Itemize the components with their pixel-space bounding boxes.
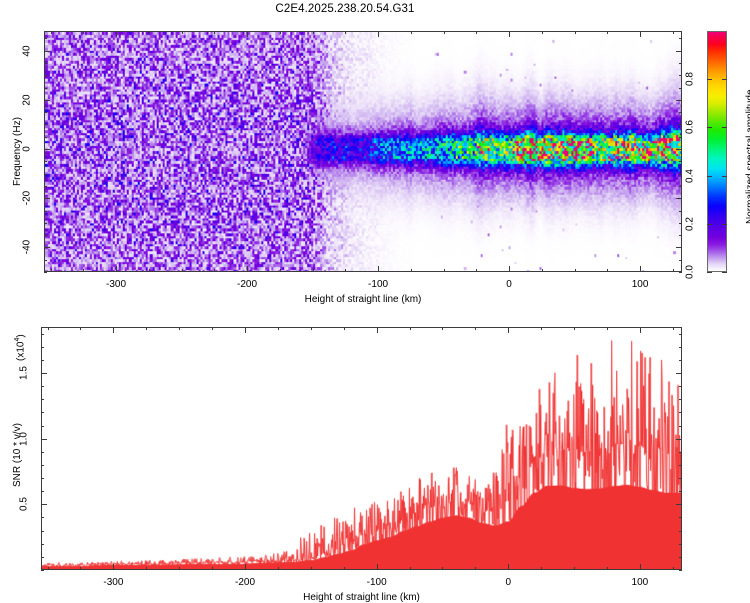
- colorbar-tick: [707, 272, 712, 273]
- snr-xtick-top: [179, 327, 180, 330]
- spectrogram-ytick-right: [676, 51, 682, 52]
- spectrogram-xtick: [542, 269, 543, 272]
- spectrogram-xtick: [411, 269, 412, 272]
- snr-trace-plot: [42, 328, 681, 569]
- snr-ytick: [41, 478, 44, 479]
- spectrogram-xtick-top: [83, 31, 84, 34]
- spectrogram-ytick: [44, 223, 47, 224]
- snr-y-multiplier-label: (x104): [14, 334, 26, 361]
- spectrogram-ytick: [44, 211, 47, 212]
- snr-x-axis-title: Height of straight line (km): [303, 592, 420, 603]
- snr-xticklabel: 100: [632, 577, 649, 588]
- snr-xtick-top: [80, 327, 81, 330]
- snr-ytick: [41, 347, 44, 348]
- snr-xtick-top: [541, 327, 542, 330]
- snr-ytick: [41, 334, 44, 335]
- spectrogram-ytick: [44, 88, 47, 89]
- spectrogram-ytick: [44, 174, 47, 175]
- snr-ytick-right: [679, 386, 682, 387]
- spectrogram-xtick: [247, 266, 248, 272]
- spectrogram-xtick-top: [345, 31, 346, 34]
- spectrogram-ytick-right: [679, 223, 682, 224]
- figure-title: C2E4.2025.238.20.54.G31: [0, 3, 690, 15]
- snr-xtick: [245, 564, 246, 570]
- snr-xtick: [80, 567, 81, 570]
- snr-ytick-right: [679, 465, 682, 466]
- colorbar-gradient: [707, 31, 727, 272]
- spectrogram-xtick: [313, 269, 314, 272]
- snr-ytick: [41, 439, 47, 440]
- snr-xtick-top: [607, 327, 608, 330]
- snr-xtick-top: [146, 327, 147, 330]
- spectrogram-xtick: [640, 266, 641, 272]
- snr-xtick: [640, 564, 641, 570]
- spectrogram-xtick-top: [575, 31, 576, 34]
- snr-ytick-right: [679, 452, 682, 453]
- snr-ytick-right: [679, 570, 682, 571]
- spectrogram-xtick: [607, 269, 608, 272]
- spectrogram-xtick-top: [247, 31, 248, 37]
- spectrogram-xtick: [378, 266, 379, 272]
- snr-ytick-right: [679, 544, 682, 545]
- spectrogram-ytick: [44, 198, 50, 199]
- spectrogram-ytick: [44, 161, 47, 162]
- snr-xtick: [146, 567, 147, 570]
- spectrogram-ytick: [44, 38, 47, 39]
- spectrogram-xtick-top: [149, 31, 150, 34]
- spectrogram-xtick: [476, 269, 477, 272]
- spectrogram-ytick: [44, 124, 47, 125]
- spectrogram-ytick-right: [676, 149, 682, 150]
- snr-ytick: [41, 426, 44, 427]
- colorbar-tick: [722, 176, 727, 177]
- spectrogram-xtick-top: [476, 31, 477, 34]
- snr-ytick: [41, 373, 47, 374]
- spectrogram-ytick: [44, 112, 47, 113]
- spectrogram-ytick: [44, 235, 47, 236]
- colorbar-tick: [722, 272, 727, 273]
- spectrogram-yticklabel: -20: [22, 185, 33, 211]
- spectrogram-ytick-right: [679, 112, 682, 113]
- snr-ytick: [41, 531, 44, 532]
- snr-xtick: [410, 567, 411, 570]
- spectrogram-ytick: [44, 51, 50, 52]
- colorbar-tick-label: 0.6: [685, 114, 696, 140]
- figure-root: C2E4.2025.238.20.54.G31 -300-200-1000100…: [0, 0, 750, 600]
- colorbar-tick-label: 0.4: [685, 163, 696, 189]
- spectrogram-xtick: [673, 269, 674, 272]
- colorbar-tick: [722, 224, 727, 225]
- snr-xtick: [278, 567, 279, 570]
- spectrogram-xtick: [214, 269, 215, 272]
- colorbar-tick: [707, 127, 712, 128]
- snr-ytick: [41, 360, 44, 361]
- colorbar-tick: [722, 127, 727, 128]
- spectrogram-xtick-top: [542, 31, 543, 34]
- spectrogram-ytick: [44, 100, 50, 101]
- snr-ytick: [41, 517, 44, 518]
- spectrogram-ytick-right: [676, 247, 682, 248]
- spectrogram-ytick: [44, 186, 47, 187]
- spectrogram-xtick-top: [378, 31, 379, 37]
- snr-xtick: [344, 567, 345, 570]
- snr-ytick-right: [679, 491, 682, 492]
- snr-xticklabel: 0: [505, 577, 511, 588]
- snr-xtick-top: [344, 327, 345, 330]
- spectrogram-xtick: [509, 266, 510, 272]
- snr-xtick-top: [574, 327, 575, 330]
- spectrogram-xtick-top: [51, 31, 52, 34]
- snr-xtick-top: [377, 327, 378, 333]
- snr-ytick-right: [679, 426, 682, 427]
- snr-ytick: [41, 412, 44, 413]
- snr-ytick: [41, 399, 44, 400]
- colorbar-tick: [707, 224, 712, 225]
- snr-xtick-top: [442, 327, 443, 330]
- spectrogram-ytick-right: [679, 75, 682, 76]
- snr-xtick-top: [673, 327, 674, 330]
- snr-ytick: [41, 544, 44, 545]
- spectrogram-ytick-right: [679, 63, 682, 64]
- snr-ytick-right: [679, 531, 682, 532]
- snr-xtick: [442, 567, 443, 570]
- colorbar-tick-label: 0.0: [685, 259, 696, 285]
- spectrogram-xtick-top: [673, 31, 674, 34]
- snr-ytick-right: [679, 517, 682, 518]
- spectrogram-xtick-top: [640, 31, 641, 37]
- spectrogram-yticklabel: 0: [22, 136, 33, 162]
- spectrogram-ytick-right: [679, 137, 682, 138]
- spectrogram-xtick-top: [607, 31, 608, 34]
- snr-xtick: [311, 567, 312, 570]
- snr-yticklabel: 1.5: [19, 360, 30, 386]
- snr-xtick: [607, 567, 608, 570]
- snr-xtick-top: [475, 327, 476, 330]
- colorbar-tick: [707, 176, 712, 177]
- spectrogram-ytick-right: [679, 272, 682, 273]
- snr-xtick-top: [410, 327, 411, 330]
- spectrogram-xtick: [345, 269, 346, 272]
- spectrogram-ytick: [44, 247, 50, 248]
- spectrogram-ytick-right: [676, 198, 682, 199]
- spectrogram-xtick: [280, 269, 281, 272]
- snr-xtick: [673, 567, 674, 570]
- spectrogram-ytick-right: [679, 38, 682, 39]
- spectrogram-ytick: [44, 149, 50, 150]
- snr-ytick: [41, 452, 44, 453]
- spectrogram-xtick: [51, 269, 52, 272]
- colorbar-tick-label: 0.8: [685, 66, 696, 92]
- snr-xtick: [212, 567, 213, 570]
- spectrogram-xtick-top: [313, 31, 314, 34]
- snr-ytick: [41, 570, 44, 571]
- spectrogram-xticklabel: -300: [106, 279, 126, 290]
- spectrogram-xticklabel: -200: [237, 279, 257, 290]
- colorbar-tick-label: 0.2: [685, 211, 696, 237]
- spectrogram-xtick: [575, 269, 576, 272]
- spectrogram-yticklabel: -40: [22, 234, 33, 260]
- spectrogram-x-axis-title: Height of straight line (km): [305, 294, 422, 305]
- snr-xtick: [541, 567, 542, 570]
- snr-xtick-top: [212, 327, 213, 330]
- snr-xtick-top: [508, 327, 509, 333]
- snr-xtick-top: [278, 327, 279, 330]
- snr-ytick-right: [679, 347, 682, 348]
- spectrogram-ytick-right: [676, 100, 682, 101]
- snr-ytick-right: [676, 504, 682, 505]
- spectrogram-xtick-top: [214, 31, 215, 34]
- snr-ytick-right: [679, 360, 682, 361]
- snr-xtick: [113, 564, 114, 570]
- spectrogram-ytick-right: [679, 88, 682, 89]
- spectrogram-yticklabel: 40: [22, 38, 33, 64]
- spectrogram-xtick-top: [444, 31, 445, 34]
- spectrogram-panel: [44, 31, 682, 272]
- spectrogram-xtick-top: [280, 31, 281, 34]
- spectrogram-xtick-top: [182, 31, 183, 34]
- spectrogram-xtick: [182, 269, 183, 272]
- snr-xticklabel: -300: [103, 577, 123, 588]
- spectrogram-ytick-right: [679, 124, 682, 125]
- snr-ytick: [41, 386, 44, 387]
- spectrogram-ytick: [44, 63, 47, 64]
- snr-yticklabel: 0.5: [19, 491, 30, 517]
- colorbar-tick: [707, 79, 712, 80]
- snr-y-axis-title: SNR (10 * v/v): [12, 423, 23, 487]
- snr-ytick-right: [679, 478, 682, 479]
- spectrogram-ytick-right: [679, 161, 682, 162]
- snr-xtick: [48, 567, 49, 570]
- snr-xtick: [574, 567, 575, 570]
- spectrogram-ytick: [44, 137, 47, 138]
- colorbar-tick: [722, 79, 727, 80]
- spectrogram-xtick-top: [116, 31, 117, 37]
- spectrogram-xticklabel: -100: [368, 279, 388, 290]
- snr-xtick-top: [48, 327, 49, 330]
- snr-ytick: [41, 465, 44, 466]
- spectrogram-ytick-right: [679, 174, 682, 175]
- spectrogram-xticklabel: 0: [506, 279, 512, 290]
- snr-xticklabel: -100: [367, 577, 387, 588]
- colorbar-title: Normalized spectral amplitude: [745, 89, 750, 224]
- spectrogram-yticklabel: 20: [22, 87, 33, 113]
- spectrogram-ytick-right: [679, 260, 682, 261]
- spectrogram-xtick: [83, 269, 84, 272]
- snr-ytick-right: [679, 412, 682, 413]
- spectrogram-y-axis-title: Frequency (Hz): [12, 117, 23, 186]
- spectrogram-xtick: [149, 269, 150, 272]
- snr-xtick: [179, 567, 180, 570]
- snr-ytick-right: [676, 439, 682, 440]
- spectrogram-ytick-right: [679, 235, 682, 236]
- snr-xtick-top: [113, 327, 114, 333]
- spectrogram-image: [45, 32, 681, 271]
- snr-xticklabel: -200: [235, 577, 255, 588]
- snr-xtick-top: [640, 327, 641, 333]
- spectrogram-ytick-right: [679, 211, 682, 212]
- spectrogram-xtick-top: [509, 31, 510, 37]
- snr-ytick-right: [679, 557, 682, 558]
- spectrogram-xtick: [444, 269, 445, 272]
- spectrogram-ytick-right: [679, 186, 682, 187]
- snr-xtick: [377, 564, 378, 570]
- snr-panel: [41, 327, 682, 570]
- snr-xtick: [508, 564, 509, 570]
- spectrogram-xtick-top: [411, 31, 412, 34]
- snr-ytick: [41, 557, 44, 558]
- spectrogram-xtick: [116, 266, 117, 272]
- snr-xtick-top: [311, 327, 312, 330]
- spectrogram-ytick: [44, 75, 47, 76]
- snr-ytick-right: [679, 399, 682, 400]
- snr-ytick: [41, 504, 47, 505]
- spectrogram-ytick: [44, 260, 47, 261]
- spectrogram-xticklabel: 100: [632, 279, 649, 290]
- snr-ytick: [41, 491, 44, 492]
- snr-xtick: [475, 567, 476, 570]
- spectrogram-ytick: [44, 272, 47, 273]
- snr-ytick-right: [679, 334, 682, 335]
- snr-ytick-right: [676, 373, 682, 374]
- snr-xtick-top: [245, 327, 246, 333]
